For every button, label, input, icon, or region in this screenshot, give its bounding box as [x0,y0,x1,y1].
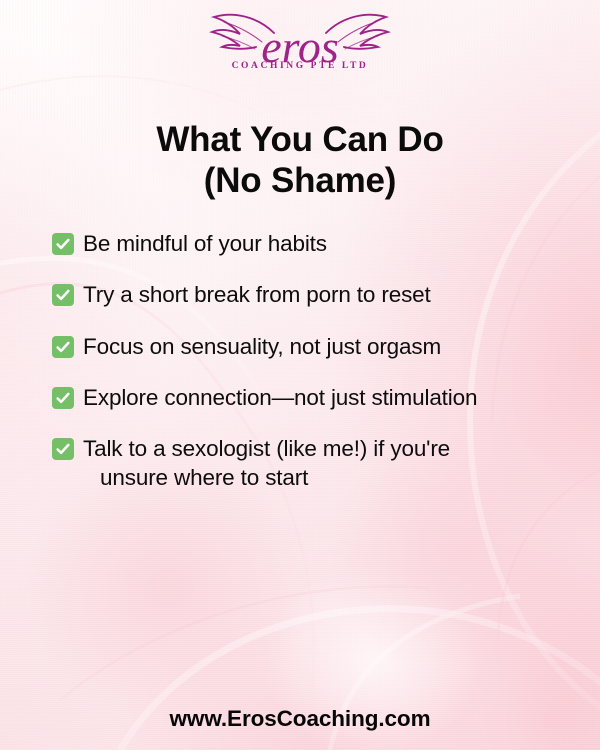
list-item-label: Talk to a sexologist (like me!) if you'r… [83,434,450,493]
list-item-label: Focus on sensuality, not just orgasm [83,332,441,361]
list-item: Be mindful of your habits [52,229,562,258]
page-title: What You Can Do (No Shame) [0,120,600,201]
list-item-label: Try a short break from porn to reset [83,280,431,309]
checklist: Be mindful of your habits Try a short br… [52,229,562,515]
white-check-mark-icon [52,336,74,358]
website-footer[interactable]: www.ErosCoaching.com [0,706,600,732]
list-item: Try a short break from porn to reset [52,280,562,309]
white-check-mark-icon [52,438,74,460]
brand-logo: eros COACHING PTE LTD [0,8,600,71]
white-check-mark-icon [52,233,74,255]
list-item-label-line-2: unsure where to start [83,463,450,492]
white-check-mark-icon [52,387,74,409]
white-check-mark-icon [52,284,74,306]
list-item-label-line-1: Talk to a sexologist (like me!) if you'r… [83,436,450,461]
title-line-1: What You Can Do [0,120,600,161]
poster-content: eros COACHING PTE LTD What You Can Do (N… [0,0,600,750]
poster-canvas: eros COACHING PTE LTD What You Can Do (N… [0,0,600,750]
list-item: Explore connection—not just stimulation [52,383,562,412]
list-item-label: Explore connection—not just stimulation [52,383,562,412]
list-item: Focus on sensuality, not just orgasm [52,332,562,361]
list-item: Talk to a sexologist (like me!) if you'r… [52,434,562,493]
brand-tagline: COACHING PTE LTD [232,61,369,71]
title-line-2: (No Shame) [0,161,600,202]
list-item-label: Be mindful of your habits [83,229,327,258]
